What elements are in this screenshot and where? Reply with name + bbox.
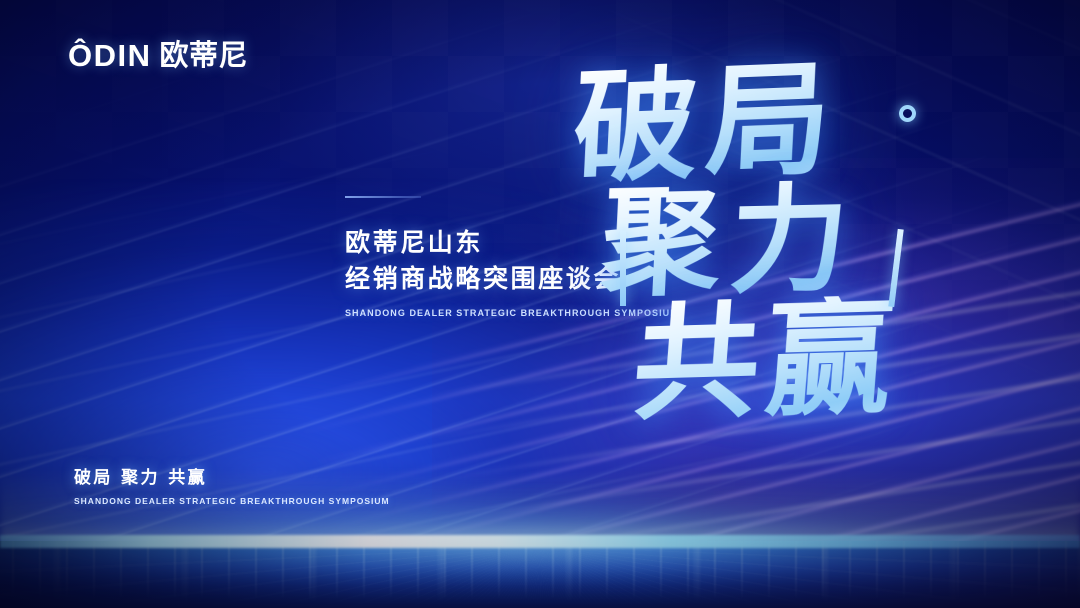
hero-line-3: 共赢 (629, 294, 903, 427)
hero-calligraphy: 破局 聚力 共赢 (560, 48, 1030, 468)
content-layer: ÔDIN 欧蒂尼 欧蒂尼山东 经销商战略突围座谈会 SHANDONG DEALE… (0, 0, 1080, 608)
hero-line-2: 聚力 (599, 179, 861, 302)
poster-canvas: ÔDIN 欧蒂尼 欧蒂尼山东 经销商战略突围座谈会 SHANDONG DEALE… (0, 0, 1080, 608)
footer-tagline-block: 破局 聚力 共赢 SHANDONG DEALER STRATEGIC BREAK… (74, 470, 390, 506)
footer-tagline-cn: 破局 聚力 共赢 (74, 470, 390, 487)
vertical-bar-left-icon (620, 231, 626, 306)
footer-tagline-en: SHANDONG DEALER STRATEGIC BREAKTHROUGH S… (74, 496, 390, 506)
degree-ring-icon (899, 105, 916, 122)
logo-chinese-wordmark: 欧蒂尼 (160, 41, 249, 70)
brand-logo[interactable]: ÔDIN 欧蒂尼 (68, 40, 248, 71)
title-divider-rule (345, 196, 421, 198)
logo-latin-wordmark: ÔDIN (68, 40, 152, 71)
